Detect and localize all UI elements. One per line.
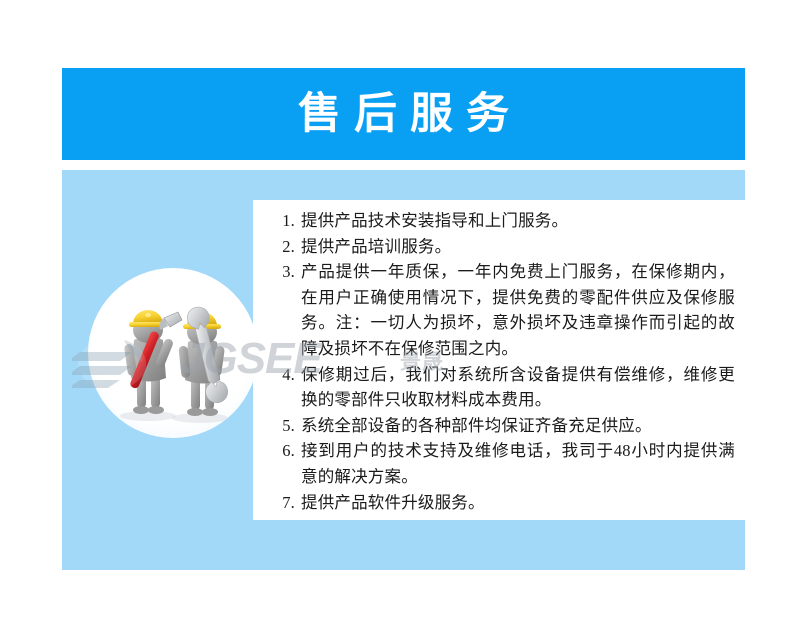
workers-icon [88,268,258,438]
service-list: 提供产品技术安装指导和上门服务。 提供产品培训服务。 产品提供一年质保，一年内免… [253,200,745,515]
list-item: 接到用户的技术支持及维修电话，我司于48小时内提供满意的解决方案。 [301,438,735,489]
page-title: 售后服务 [285,93,522,136]
list-item: 产品提供一年质保，一年内免费上门服务，在保修期内，在用户正确使用情况下，提供免费… [301,259,735,361]
list-item: 系统全部设备的各种部件均保证齐备充足供应。 [301,413,735,439]
header-bar: 售后服务 [62,68,745,160]
content-box: 提供产品技术安装指导和上门服务。 提供产品培训服务。 产品提供一年质保，一年内免… [253,200,745,520]
worker-right [178,305,230,416]
list-item: 保修期过后，我们对系统所含设备提供有偿维修，维修更换的零部件只收取材料成本费用。 [301,362,735,413]
service-illustration [88,268,258,438]
page-root: 售后服务 提供产品技术安装指导和上门服务。 提供产品培训服务。 产品提供一年质保… [0,0,803,639]
list-item: 提供产品技术安装指导和上门服务。 [301,208,735,234]
list-item: 提供产品培训服务。 [301,234,735,260]
list-item: 提供产品软件升级服务。 [301,490,735,516]
worker-left [124,310,182,414]
